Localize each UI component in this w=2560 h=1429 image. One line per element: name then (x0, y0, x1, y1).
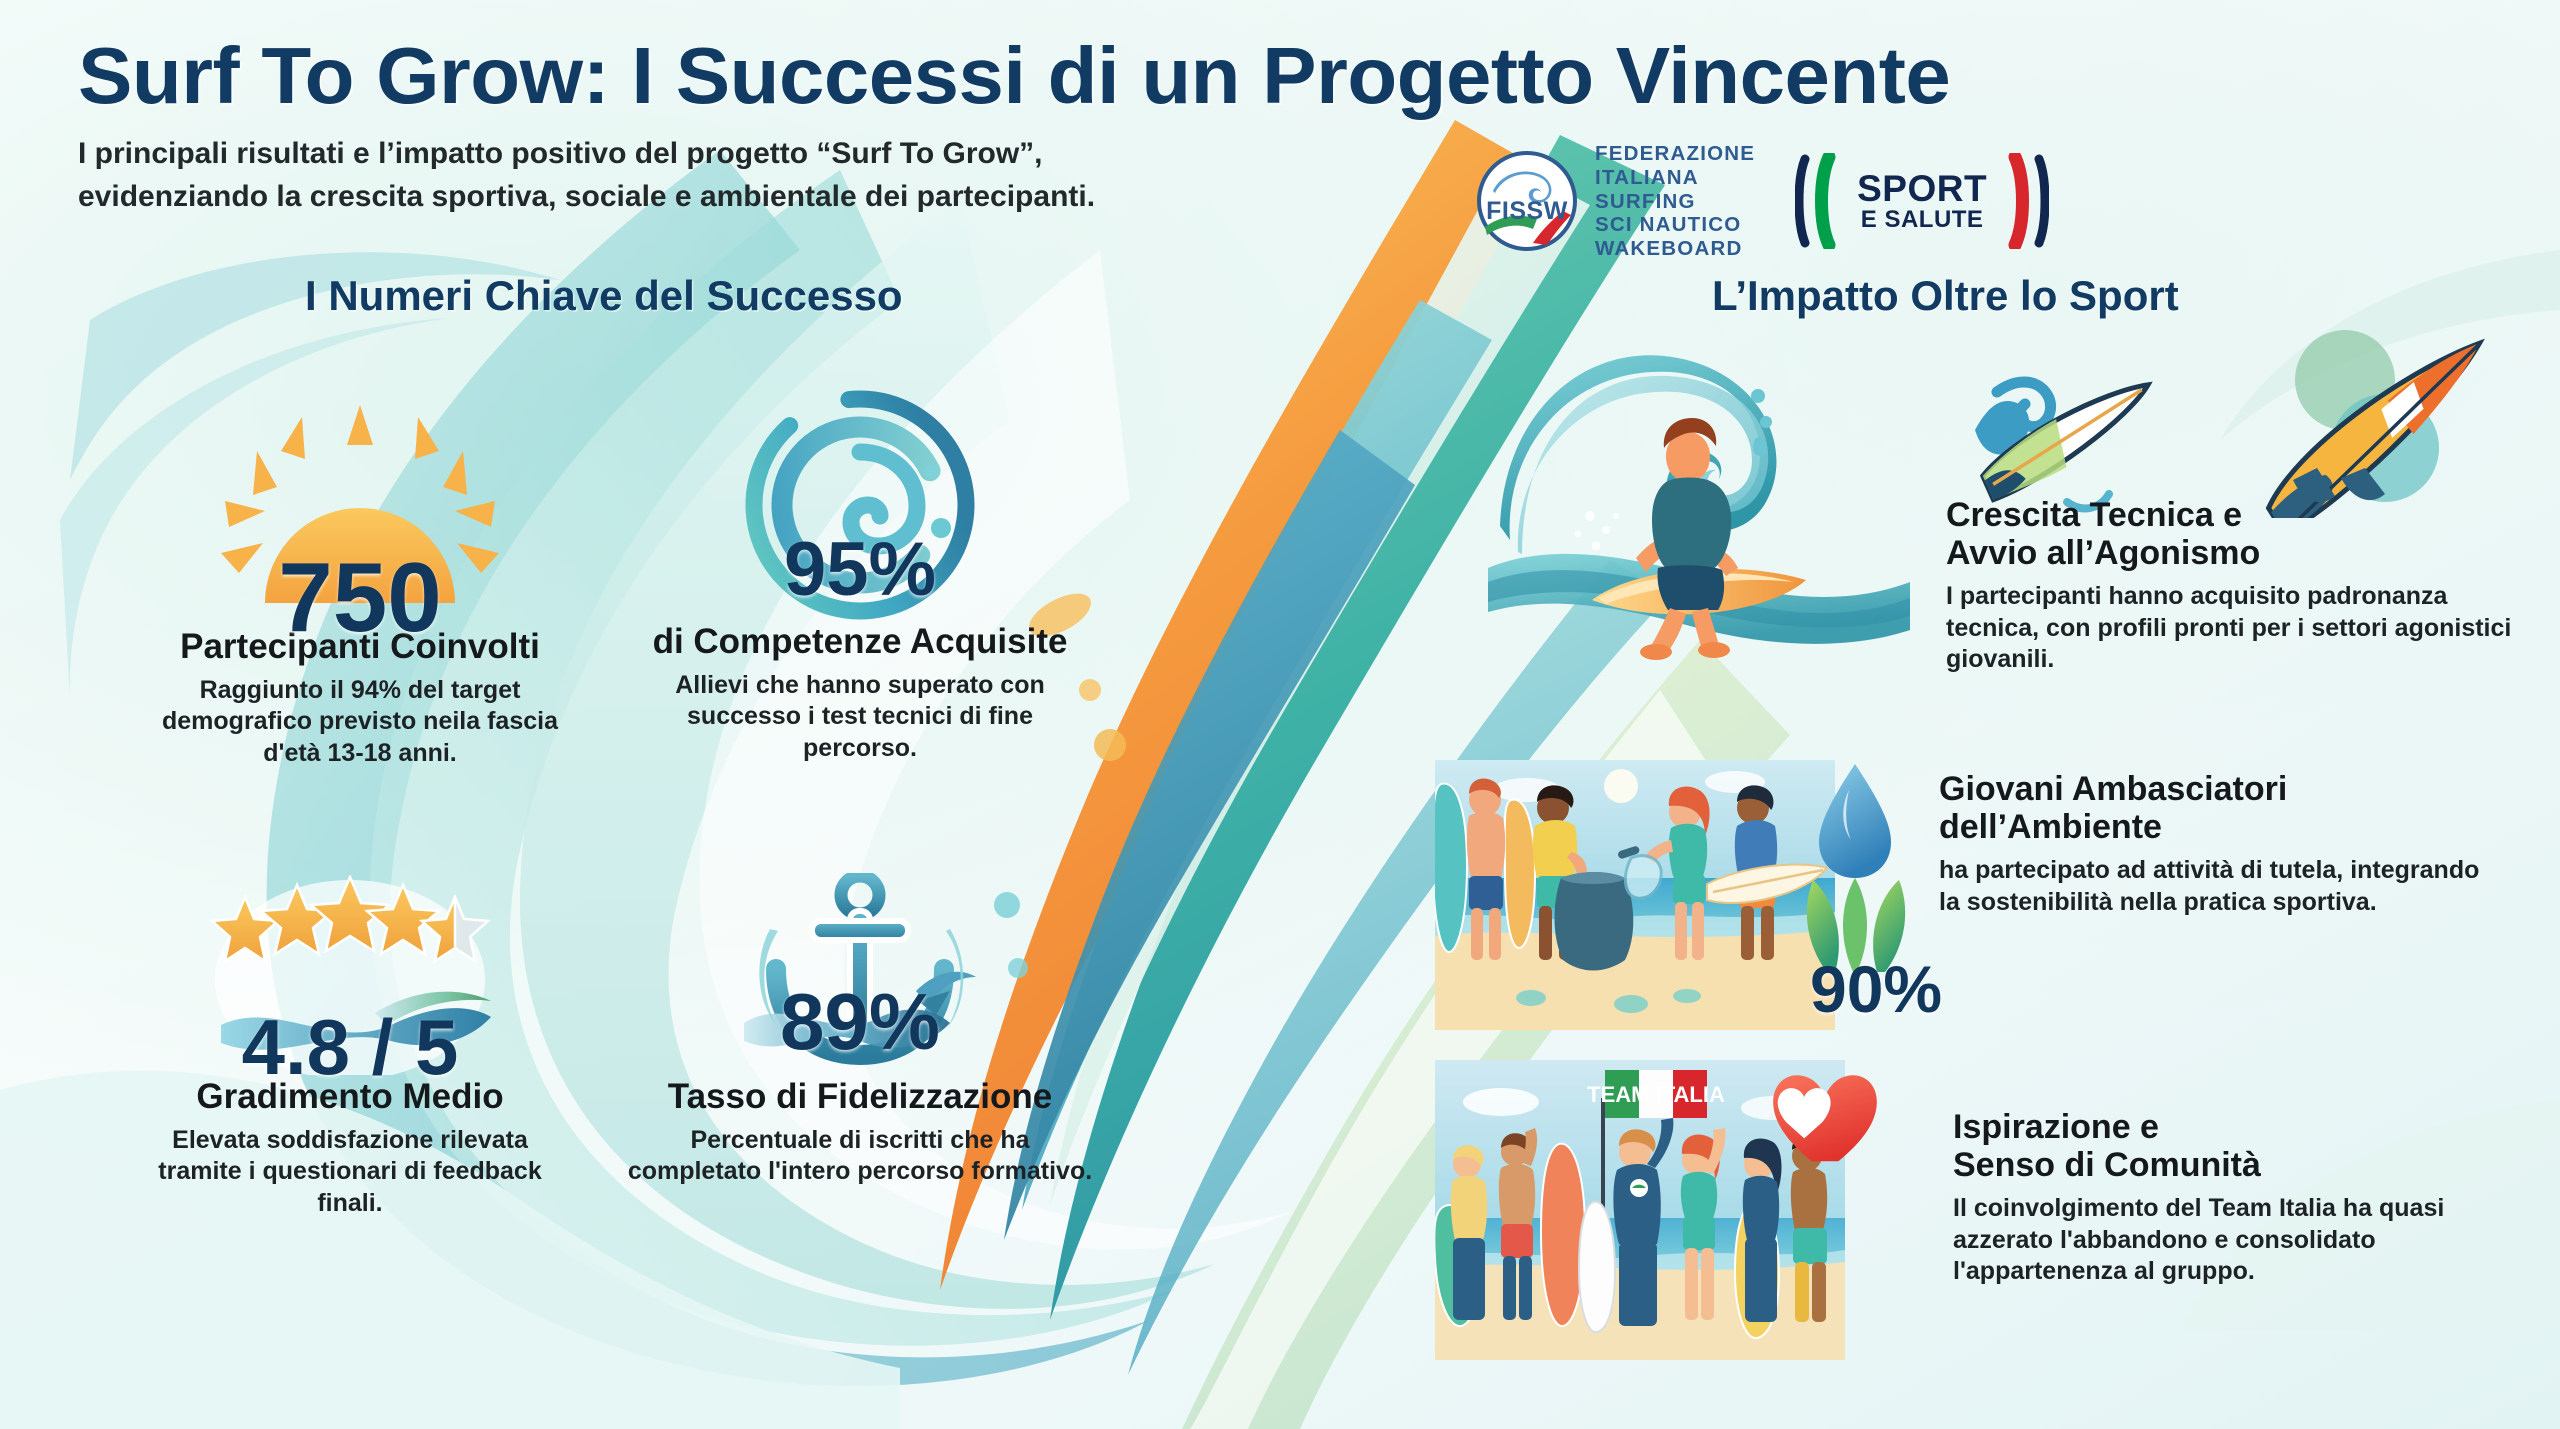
fissw-logo: FISSW FEDERAZIONE ITALIANA SURFING SCI N… (1475, 142, 1755, 261)
fissw-line-1: FEDERAZIONE (1595, 142, 1755, 166)
fissw-line-5: WAKEBOARD (1595, 237, 1755, 261)
impact-percent-badge: 90% (1810, 956, 1942, 1022)
impact-title-line-1: Giovani Ambasciatori (1939, 770, 2287, 808)
stat-card-participants: 750 Partecipanti Coinvolti Raggiunto il … (150, 395, 570, 769)
impact-title-line-1: Ispirazione e (1953, 1108, 2159, 1146)
impact-illustration-wrap: TEAM ITALIA (1435, 1060, 1915, 1365)
section-heading-right: L’Impatto Oltre lo Sport (1712, 272, 2179, 320)
impact-text: Giovani Ambasciatori dell’Ambiente ha pa… (1939, 760, 2499, 918)
impact-title: Ispirazione e Senso di Comunità (1953, 1108, 2513, 1185)
team-italia-flag-label: TEAM ITALIA (1587, 1082, 1725, 1107)
page-subtitle: I principali risultati e l’impatto posit… (78, 133, 1328, 218)
sport-e-salute-line-2: E SALUTE (1861, 207, 1984, 232)
sport-e-salute-wordmark: SPORT E SALUTE (1857, 171, 1987, 232)
stat-value: 750 (150, 548, 570, 646)
stat-card-fidelizzazione: 89% Tasso di Fidelizzazione Percentuale … (625, 875, 1095, 1188)
fissw-line-2: ITALIANA (1595, 166, 1755, 190)
stat-description: Elevata soddisfazione rilevata tramite i… (130, 1125, 570, 1220)
page-title: Surf To Grow: I Successi di un Progetto … (78, 34, 2526, 117)
sport-e-salute-left-brackets-icon (1795, 153, 1857, 249)
fissw-line-3: SURFING (1595, 190, 1755, 214)
sport-e-salute-logo: SPORT E SALUTE (1795, 153, 2049, 249)
impact-row-crescita-tecnica: Crescita Tecnica e Avvio all’Agonismo I … (1470, 330, 2530, 676)
surfer-on-wave-illustration (1470, 330, 1920, 660)
stat-description: Percentuale di iscritti che ha completat… (625, 1125, 1095, 1188)
sport-e-salute-line-1: SPORT (1857, 171, 1987, 207)
impact-text: Crescita Tecnica e Avvio all’Agonismo I … (1946, 330, 2526, 676)
impact-title-line-2: Senso di Comunità (1953, 1146, 2261, 1184)
impact-row-ispirazione-comunita: TEAM ITALIA (1435, 1060, 2535, 1365)
logo-bar: FISSW FEDERAZIONE ITALIANA SURFING SCI N… (1475, 142, 2049, 261)
page-subtitle-line-1: I principali risultati e l’impatto posit… (78, 133, 1328, 176)
page-subtitle-line-2: evidenziando la crescita sportiva, socia… (78, 176, 1328, 219)
impact-title: Crescita Tecnica e Avvio all’Agonismo (1946, 496, 2526, 573)
impact-illustration-wrap (1470, 330, 1920, 665)
sport-e-salute-right-brackets-icon (1987, 153, 2049, 249)
impact-illustration-wrap: 90% (1435, 760, 1915, 1035)
stat-description: Raggiunto il 94% del target demografico … (150, 675, 570, 770)
stat-value: 4.8 / 5 (130, 1008, 570, 1086)
impact-description: Il coinvolgimento del Team Italia ha qua… (1953, 1193, 2513, 1288)
impact-text: Ispirazione e Senso di Comunità Il coinv… (1953, 1060, 2513, 1288)
impact-title-line-2: Avvio all’Agonismo (1946, 534, 2260, 572)
stat-card-gradimento: 4.8 / 5 Gradimento Medio Elevata soddisf… (130, 875, 570, 1219)
impact-title-line-2: dell’Ambiente (1939, 808, 2162, 846)
impact-title-line-1: Crescita Tecnica e (1946, 496, 2242, 534)
stat-card-competenze: 95% di Competenze Acquisite Allievi che … (650, 390, 1070, 764)
stat-value: 95% (650, 532, 1070, 608)
impact-row-ambasciatori-ambiente: 90% Giovani Ambasciatori dell’Ambiente h… (1435, 760, 2535, 1035)
impact-description: ha partecipato ad attività di tutela, in… (1939, 855, 2499, 919)
team-italia-group-illustration: TEAM ITALIA (1435, 1060, 1915, 1360)
section-heading-left: I Numeri Chiave del Successo (305, 272, 903, 320)
stat-label: Tasso di Fidelizzazione (625, 1077, 1095, 1117)
fissw-line-4: SCI NAUTICO (1595, 213, 1755, 237)
stat-value: 89% (625, 982, 1095, 1062)
svg-text:FISSW: FISSW (1486, 197, 1568, 225)
impact-title: Giovani Ambasciatori dell’Ambiente (1939, 770, 2499, 847)
fissw-badge-icon: FISSW (1475, 149, 1579, 253)
header: Surf To Grow: I Successi di un Progetto … (78, 34, 2478, 218)
fissw-wordmark: FEDERAZIONE ITALIANA SURFING SCI NAUTICO… (1595, 142, 1755, 261)
stat-description: Allievi che hanno superato con successo … (650, 670, 1070, 765)
impact-description: I partecipanti hanno acquisito padronanz… (1946, 581, 2526, 676)
